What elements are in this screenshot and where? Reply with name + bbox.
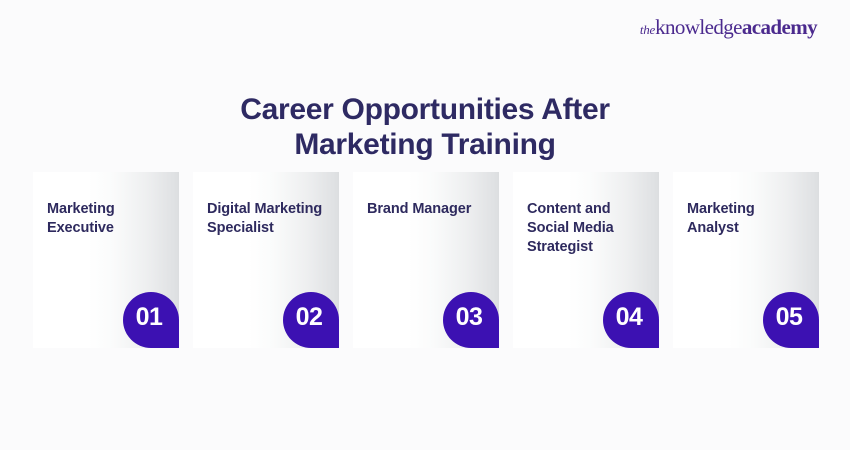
card-number-label: 01	[136, 305, 163, 330]
card-number-label: 03	[456, 305, 483, 330]
career-card-title: Brand Manager	[367, 200, 483, 219]
card-number-badge: 03	[443, 292, 499, 348]
career-card[interactable]: Digital Marketing Specialist 02	[193, 172, 339, 348]
card-number-badge: 05	[763, 292, 819, 348]
career-card[interactable]: Brand Manager 03	[353, 172, 499, 348]
card-number-badge: 01	[123, 292, 179, 348]
career-card-title: Marketing Executive	[47, 200, 163, 238]
card-number-badge: 02	[283, 292, 339, 348]
page-title-line-1: Career Opportunities After	[0, 92, 850, 127]
career-card-title: Digital Marketing Specialist	[207, 200, 323, 238]
career-card-title: Content and Social Media Strategist	[527, 200, 643, 257]
page-title-line-2: Marketing Training	[0, 127, 850, 162]
brand-logo: theknowledgeacademy	[640, 17, 817, 38]
logo-knowledge-text: knowledge	[655, 15, 742, 39]
career-card[interactable]: Marketing Executive 01	[33, 172, 179, 348]
logo-the-text: the	[640, 22, 655, 37]
career-card[interactable]: Marketing Analyst 05	[673, 172, 819, 348]
page-title: Career Opportunities After Marketing Tra…	[0, 92, 850, 163]
card-number-label: 02	[296, 305, 323, 330]
career-card[interactable]: Content and Social Media Strategist 04	[513, 172, 659, 348]
career-cards-list: Marketing Executive 01 Digital Marketing…	[33, 172, 819, 348]
card-number-badge: 04	[603, 292, 659, 348]
card-number-label: 04	[616, 305, 643, 330]
card-number-label: 05	[776, 305, 803, 330]
career-card-title: Marketing Analyst	[687, 200, 803, 238]
logo-academy-text: academy	[742, 15, 817, 39]
